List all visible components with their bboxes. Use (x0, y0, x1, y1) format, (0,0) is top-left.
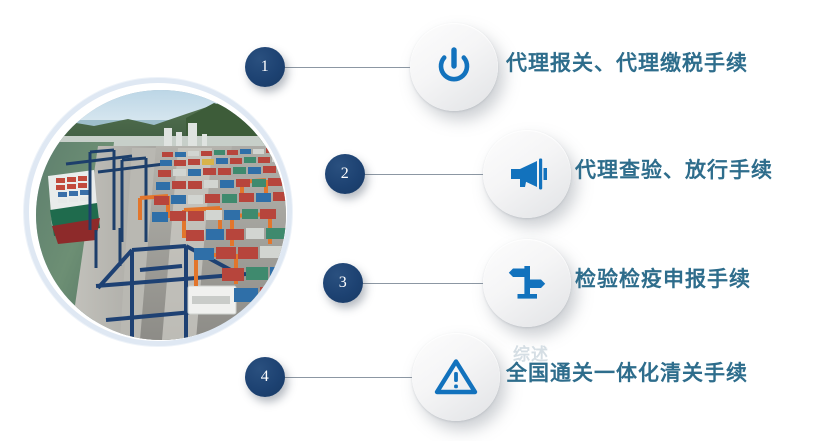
port-photo-image (36, 90, 286, 340)
step-label-4: 全国通关一体化清关手续 (506, 357, 748, 387)
connector-line-4 (284, 377, 418, 378)
signpost-icon (505, 261, 549, 305)
connector-line-3 (362, 283, 490, 284)
warning-triangle-icon (434, 355, 478, 399)
port-photo-circle (24, 78, 292, 346)
step-number-3[interactable]: 3 (323, 263, 363, 303)
step-label-1: 代理报关、代理缴税手续 (506, 47, 748, 77)
infographic-canvas: 1 代理报关、代理缴税手续 2 代理查验、放行手续 3 (0, 0, 820, 441)
step-label-3: 检验检疫申报手续 (575, 263, 751, 293)
step-label-2: 代理查验、放行手续 (575, 154, 773, 184)
port-photo-clip (36, 90, 286, 340)
step-icon-disc-4[interactable] (412, 333, 500, 421)
step-number-4[interactable]: 4 (245, 357, 285, 397)
step-number-1[interactable]: 1 (245, 47, 285, 87)
step-number-2[interactable]: 2 (325, 154, 365, 194)
power-icon (432, 45, 476, 89)
connector-line-1 (284, 67, 416, 68)
step-icon-disc-1[interactable] (410, 23, 498, 111)
connector-line-2 (364, 174, 490, 175)
step-icon-disc-3[interactable] (483, 239, 571, 327)
megaphone-icon (505, 152, 549, 196)
step-icon-disc-2[interactable] (483, 130, 571, 218)
